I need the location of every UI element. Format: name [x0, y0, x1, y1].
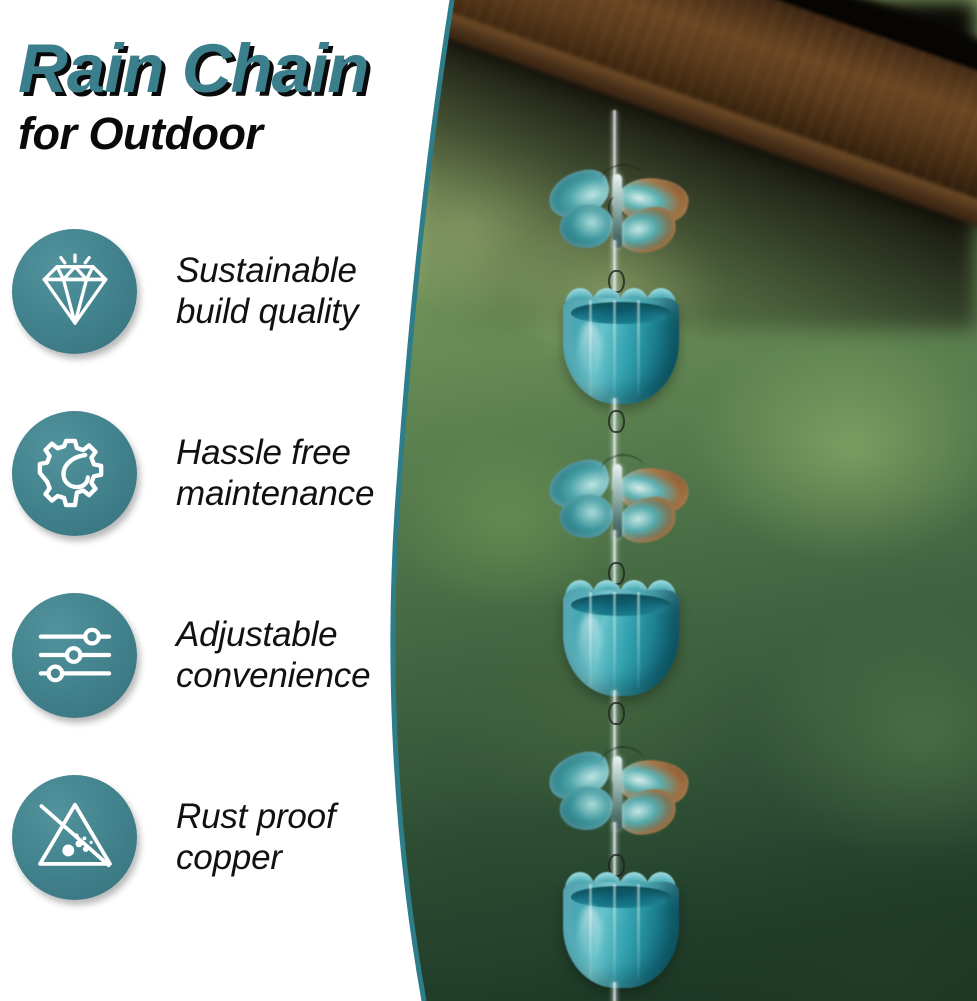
butterfly-ornament: [542, 750, 692, 842]
flower-cup: [555, 572, 687, 700]
cup-highlight: [579, 614, 601, 670]
sliders-icon: [12, 593, 137, 718]
flower-cup: [555, 280, 687, 408]
feature-item-sustainable-build-quality: Sustainable build quality: [12, 228, 412, 354]
feature-item-rust-proof-copper: Rust proof copper: [12, 774, 412, 900]
cup-highlight: [579, 906, 601, 962]
feature-label-line2: maintenance: [176, 473, 374, 514]
flower-cup: [555, 864, 687, 992]
diamond-icon: [12, 229, 137, 354]
feature-label: Rust proof copper: [176, 796, 335, 879]
butterfly-body: [613, 756, 622, 830]
rain-chain: [560, 110, 730, 1001]
cup-rib: [613, 300, 616, 396]
page-subtitle: for Outdoor: [18, 110, 368, 157]
feature-label-line2: build quality: [176, 291, 358, 332]
cup-highlight: [579, 322, 601, 378]
butterfly-body: [613, 174, 622, 248]
chain-link: [608, 702, 625, 725]
feature-label: Sustainable build quality: [176, 250, 358, 333]
cup-rib: [613, 592, 616, 688]
cup-rim: [571, 302, 671, 324]
feature-label-line1: Sustainable: [176, 250, 358, 291]
feature-label-line1: Adjustable: [176, 614, 370, 655]
feature-item-adjustable-convenience: Adjustable convenience: [12, 592, 412, 718]
cup-rib: [637, 300, 640, 396]
feature-label-line1: Hassle free: [176, 432, 374, 473]
feature-label: Adjustable convenience: [176, 614, 370, 697]
feature-list: Sustainable build quality Hassle free ma…: [12, 228, 412, 900]
page-title: Rain Chain: [18, 34, 368, 104]
cup-rib: [637, 884, 640, 980]
feature-label: Hassle free maintenance: [176, 432, 374, 515]
header-block: Rain Chain for Outdoor: [18, 34, 368, 158]
cup-rim: [571, 594, 671, 616]
butterfly-body: [613, 464, 622, 538]
butterfly-ornament: [542, 458, 692, 550]
cup-rib: [613, 884, 616, 980]
cup-rib: [637, 592, 640, 688]
chain-wire: [612, 982, 617, 1001]
feature-label-line2: convenience: [176, 655, 370, 696]
feature-label-line1: Rust proof: [176, 796, 335, 837]
product-infographic: Rain Chain for Outdoor: [0, 0, 977, 1001]
no-rust-icon: [12, 775, 137, 900]
cup-rim: [571, 886, 671, 908]
chain-link: [608, 410, 625, 433]
feature-item-hassle-free-maintenance: Hassle free maintenance: [12, 410, 412, 536]
gear-icon: [12, 411, 137, 536]
butterfly-ornament: [542, 168, 692, 260]
feature-label-line2: copper: [176, 837, 335, 878]
